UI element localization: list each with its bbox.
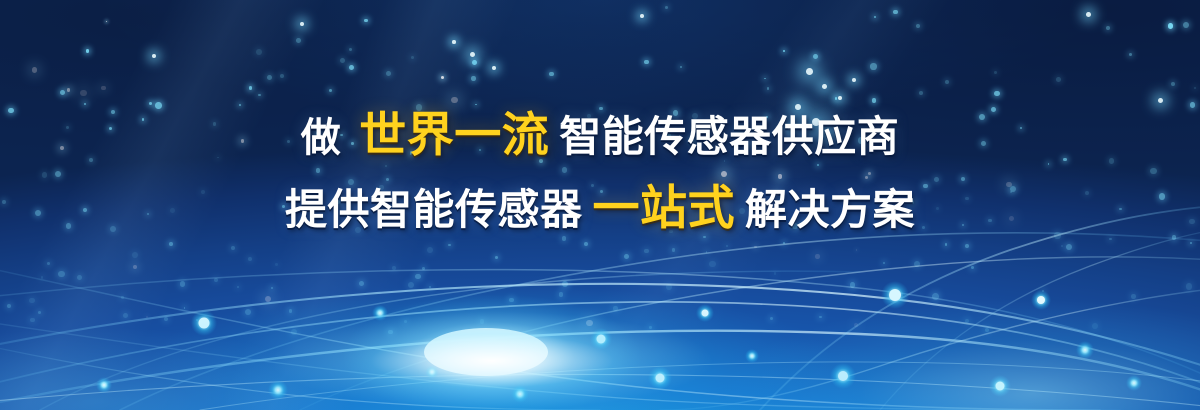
particle-dot bbox=[815, 254, 820, 259]
particle-dot bbox=[764, 78, 766, 80]
particle-dot bbox=[231, 246, 235, 250]
particle-dot bbox=[248, 257, 252, 261]
tagline-2-tail: 解决方案 bbox=[745, 189, 915, 231]
particle-dot bbox=[289, 309, 293, 313]
particle-dot bbox=[364, 19, 367, 22]
particle-dot bbox=[388, 330, 393, 335]
particle-sparkle bbox=[852, 78, 856, 82]
particle-dot bbox=[916, 24, 920, 28]
particle-dot bbox=[291, 329, 297, 335]
particle-dot bbox=[404, 320, 408, 324]
particle-dot bbox=[475, 104, 477, 106]
tagline-2-highlight: 一站式 bbox=[593, 185, 736, 232]
particle-dot bbox=[349, 65, 354, 70]
particle-dot bbox=[872, 98, 877, 103]
particle-dot bbox=[180, 281, 186, 287]
particle-sparkle bbox=[640, 14, 644, 18]
tagline-line-2: 提供智能传感器一站式解决方案 bbox=[0, 185, 1200, 232]
particle-dot bbox=[267, 75, 272, 80]
particle-dot bbox=[275, 263, 278, 266]
particle-dot bbox=[726, 245, 728, 247]
particle-dot bbox=[1129, 53, 1132, 56]
particle-dot bbox=[1190, 102, 1195, 107]
particle-dot bbox=[774, 272, 776, 274]
particle-dot bbox=[429, 286, 431, 288]
particle-sparkle bbox=[1086, 12, 1091, 17]
tagline-1-lead: 做 bbox=[301, 118, 342, 158]
particle-dot bbox=[559, 292, 564, 297]
particle-dot bbox=[392, 266, 396, 270]
particle-dot bbox=[271, 287, 273, 289]
particle-dot bbox=[32, 67, 38, 73]
tagline-2-lead: 提供智能传感器 bbox=[285, 189, 583, 231]
particle-dot bbox=[132, 252, 138, 258]
particle-dot bbox=[41, 276, 44, 279]
particle-dot bbox=[1042, 290, 1044, 292]
particle-dot bbox=[754, 246, 757, 249]
particle-dot bbox=[359, 281, 364, 286]
particle-dot bbox=[649, 326, 651, 328]
particle-dot bbox=[146, 316, 148, 318]
particle-dot bbox=[1168, 23, 1174, 29]
network-nodes bbox=[96, 281, 1142, 403]
particle-dot bbox=[408, 282, 414, 288]
particle-dot bbox=[47, 262, 50, 265]
particle-sparkle bbox=[300, 22, 304, 26]
particle-dot bbox=[854, 323, 859, 328]
particle-dot bbox=[1066, 244, 1072, 250]
particle-dot bbox=[945, 80, 949, 84]
particle-sparkle bbox=[152, 54, 156, 58]
particle-dot bbox=[67, 88, 71, 92]
particle-dot bbox=[613, 306, 618, 311]
particle-dot bbox=[133, 265, 137, 269]
particle-dot bbox=[509, 298, 514, 303]
particle-dot bbox=[767, 87, 769, 89]
particle-dot bbox=[1190, 242, 1192, 244]
particle-dot bbox=[38, 311, 41, 314]
particle-dot bbox=[1183, 22, 1189, 28]
particle-dot bbox=[239, 104, 241, 106]
particle-dot bbox=[856, 249, 858, 251]
particle-dot bbox=[783, 50, 785, 52]
particle-dot bbox=[472, 60, 477, 65]
particle-dot bbox=[427, 247, 434, 254]
particle-dot bbox=[1172, 235, 1177, 240]
particle-dot bbox=[256, 49, 262, 55]
particle-dot bbox=[971, 266, 974, 269]
particle-dot bbox=[480, 319, 484, 323]
particle-dot bbox=[121, 296, 124, 299]
particle-dot bbox=[932, 293, 939, 300]
particle-dot bbox=[245, 309, 251, 315]
particle-dot bbox=[164, 317, 168, 321]
particle-dot bbox=[280, 74, 284, 78]
particle-dot bbox=[783, 242, 785, 244]
particle-dot bbox=[415, 274, 421, 280]
particle-dot bbox=[644, 60, 648, 64]
headline-block: 做世界一流智能传感器供应商 提供智能传感器一站式解决方案 bbox=[0, 112, 1200, 232]
particle-dot bbox=[870, 63, 876, 69]
tagline-1-highlight: 世界一流 bbox=[359, 112, 549, 159]
particle-dot bbox=[1092, 323, 1098, 329]
particle-sparkle bbox=[822, 84, 827, 89]
particle-dot bbox=[706, 251, 708, 253]
particle-dot bbox=[586, 320, 593, 327]
particle-dot bbox=[1061, 245, 1063, 247]
particle-dot bbox=[84, 103, 86, 105]
particle-dot bbox=[770, 317, 773, 320]
particle-dot bbox=[644, 249, 649, 254]
particle-dot bbox=[214, 278, 218, 282]
tagline-1-tail: 智能传感器供应商 bbox=[559, 116, 899, 158]
particle-dot bbox=[60, 90, 65, 95]
particle-dot bbox=[340, 58, 345, 63]
particle-dot bbox=[123, 313, 128, 318]
particle-dot bbox=[422, 267, 425, 270]
particle-dot bbox=[562, 236, 566, 240]
particle-sparkle bbox=[492, 66, 496, 70]
center-light-burst bbox=[342, 294, 642, 410]
particle-dot bbox=[237, 286, 239, 288]
particle-dot bbox=[86, 49, 89, 52]
particle-dot bbox=[77, 275, 82, 280]
particle-dot bbox=[850, 282, 856, 288]
particle-dot bbox=[249, 86, 253, 90]
particle-dot bbox=[106, 21, 108, 23]
particle-dot bbox=[985, 328, 989, 332]
particle-dot bbox=[914, 261, 920, 267]
particle-dot bbox=[945, 243, 947, 245]
particle-dot bbox=[58, 271, 65, 278]
particle-sparkle bbox=[452, 40, 456, 44]
particle-dot bbox=[296, 38, 301, 43]
particle-dot bbox=[441, 76, 444, 79]
particle-dot bbox=[448, 244, 451, 247]
particle-dot bbox=[1109, 238, 1112, 241]
particle-dot bbox=[451, 97, 458, 104]
particle-sparkle bbox=[1158, 98, 1163, 103]
particle-dot bbox=[994, 71, 997, 74]
particle-dot bbox=[258, 94, 260, 96]
hero-banner: 做世界一流智能传感器供应商 提供智能传感器一站式解决方案 bbox=[0, 0, 1200, 410]
particle-dot bbox=[155, 102, 162, 109]
particle-dot bbox=[1194, 87, 1196, 89]
particle-dot bbox=[666, 284, 672, 290]
particle-dot bbox=[549, 72, 554, 77]
particle-dot bbox=[30, 318, 35, 323]
particle-dot bbox=[893, 10, 897, 14]
particle-dot bbox=[1106, 26, 1110, 30]
particle-dot bbox=[1131, 294, 1136, 299]
particle-dot bbox=[835, 97, 838, 100]
particle-dot bbox=[599, 107, 603, 111]
tagline-line-1: 做世界一流智能传感器供应商 bbox=[0, 112, 1200, 159]
particle-sparkle bbox=[806, 68, 813, 75]
particle-dot bbox=[169, 242, 173, 246]
particle-dot bbox=[101, 86, 106, 91]
particle-dot bbox=[584, 242, 588, 246]
particle-sparkle bbox=[795, 104, 801, 110]
particle-dot bbox=[265, 296, 271, 302]
particle-dot bbox=[1186, 283, 1193, 290]
particle-dot bbox=[495, 256, 498, 259]
particle-dot bbox=[349, 48, 353, 52]
particle-dot bbox=[672, 248, 675, 251]
particle-dot bbox=[329, 89, 332, 92]
particle-dot bbox=[819, 316, 821, 318]
particle-dot bbox=[813, 54, 818, 59]
particle-dot bbox=[624, 254, 629, 259]
particle-dot bbox=[994, 91, 1000, 97]
particle-dot bbox=[149, 102, 152, 105]
particle-dot bbox=[965, 244, 969, 248]
particle-dot bbox=[1171, 82, 1175, 86]
particle-dot bbox=[80, 90, 87, 97]
particle-dot bbox=[196, 319, 198, 321]
particle-dot bbox=[1056, 77, 1061, 82]
particle-dot bbox=[29, 298, 35, 304]
particle-dot bbox=[562, 281, 568, 287]
particle-dot bbox=[680, 66, 682, 68]
particle-dot bbox=[1054, 232, 1060, 238]
particle-dot bbox=[919, 91, 923, 95]
particle-dot bbox=[386, 71, 391, 76]
particle-dot bbox=[471, 76, 476, 81]
particle-dot bbox=[411, 56, 414, 59]
particle-dot bbox=[709, 261, 715, 267]
particle-sparkle bbox=[838, 96, 842, 100]
particle-sparkle bbox=[470, 52, 475, 57]
particle-dot bbox=[665, 6, 669, 10]
particle-dot bbox=[965, 319, 970, 324]
particle-dot bbox=[883, 262, 885, 264]
particle-dot bbox=[184, 307, 186, 309]
particle-dot bbox=[7, 304, 11, 308]
particle-dot bbox=[874, 16, 876, 18]
